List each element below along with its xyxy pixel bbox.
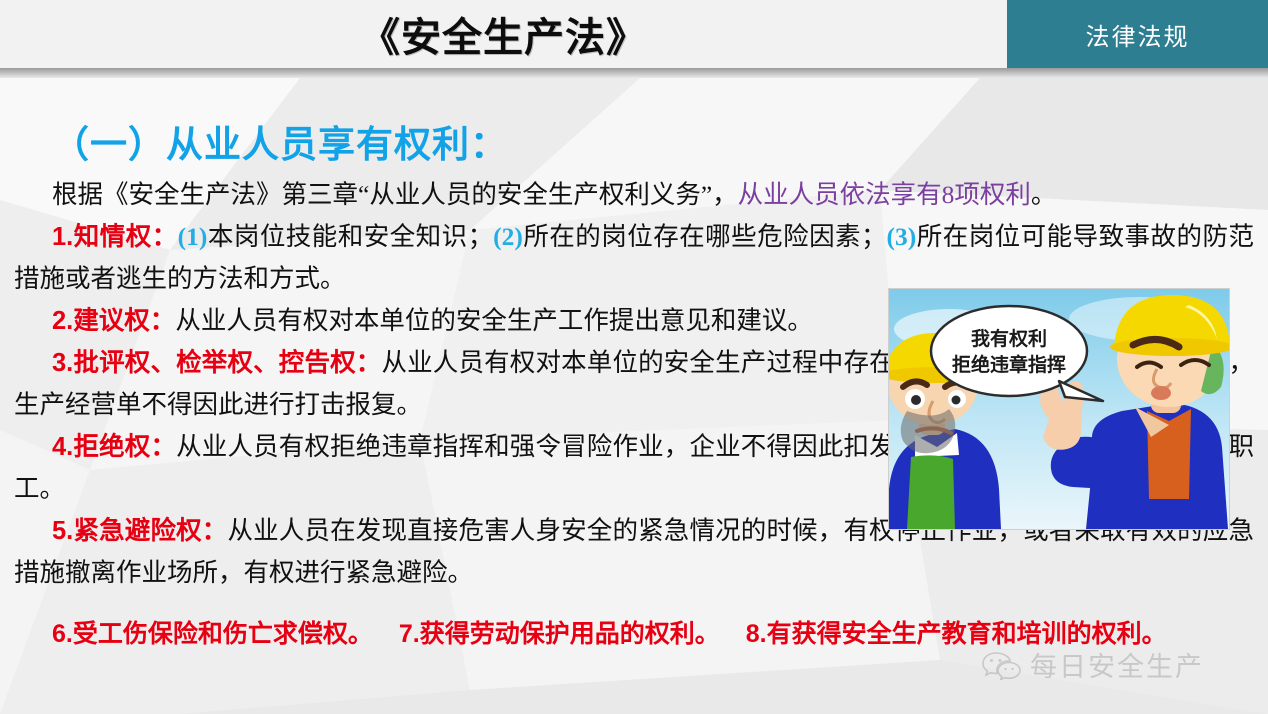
item-5-term: 紧急避险权 — [73, 517, 202, 545]
item-7-text: 获得劳动保护用品的权利。 — [420, 620, 720, 648]
item-1-term: 知情权 — [73, 223, 151, 251]
item-6-text: 受工伤保险和伤亡求偿权。 — [73, 620, 373, 648]
cartoon-scene: 我有权利 拒绝违章指挥 — [889, 289, 1229, 529]
slide-root: 《安全生产法》 法律法规 （一）从业人员享有权利： 根据《安全生产法》第三章“从… — [0, 0, 1268, 714]
item-5-num: 5. — [52, 517, 73, 545]
item-3-colon: ： — [356, 348, 382, 377]
item-4-num: 4. — [52, 433, 73, 461]
item-7-num: 7. — [399, 620, 420, 648]
item-1-num: 1. — [52, 223, 73, 251]
section-heading: （一）从业人员享有权利： — [52, 114, 508, 168]
speech-line-1: 我有权利 — [971, 327, 1047, 350]
item-2-colon: ： — [150, 306, 176, 335]
wechat-icon — [982, 650, 1022, 680]
item-3-term: 批评权、检举权、控告权 — [73, 349, 356, 377]
intro-highlight: 从业人员依法享有8项权利 — [738, 180, 1031, 209]
category-badge: 法律法规 — [1007, 0, 1268, 68]
intro-tail: 。 — [1031, 180, 1057, 209]
workers-illustration: 我有权利 拒绝违章指挥 — [888, 288, 1230, 530]
page-title: 《安全生产法》 — [0, 0, 1007, 68]
header-shadow — [0, 68, 1268, 78]
item-3-num: 3. — [52, 349, 73, 377]
item-8-text: 有获得安全生产教育和培训的权利 — [767, 620, 1142, 648]
item-8-num: 8. — [746, 620, 767, 648]
speech-line-2: 拒绝违章指挥 — [952, 353, 1066, 376]
item-5-colon: ： — [202, 516, 228, 545]
item-1-colon: ： — [152, 222, 178, 251]
item-2-term: 建议权 — [73, 307, 150, 335]
item-1-sub-3-mark: (3) — [887, 222, 917, 251]
item-2-text: 从业人员有权对本单位的安全生产工作提出意见和建议。 — [175, 306, 813, 335]
item-1-sub-1-mark: (1) — [178, 222, 208, 251]
watermark-text: 每日安全生产 — [1030, 645, 1204, 684]
item-1-sub-2-mark: (2) — [493, 222, 523, 251]
header-bar: 《安全生产法》 法律法规 — [0, 0, 1268, 68]
final-tail: 。 — [1142, 620, 1167, 648]
item-4-colon: ： — [150, 432, 176, 461]
intro-lead: 根据《安全生产法》第三章“从业人员的安全生产权利义务”， — [52, 180, 738, 209]
item-6-num: 6. — [52, 620, 73, 648]
item-2-num: 2. — [52, 307, 73, 335]
watermark: 每日安全生产 — [982, 645, 1204, 684]
item-1-sub-1-text: 本岗位技能和安全知识； — [207, 222, 493, 251]
item-1-sub-2-text: 所在的岗位存在哪些危险因素； — [523, 222, 887, 251]
item-4-term: 拒绝权 — [73, 433, 150, 461]
paragraph-intro: 根据《安全生产法》第三章“从业人员的安全生产权利义务”，从业人员依法享有8项权利… — [14, 174, 1254, 216]
